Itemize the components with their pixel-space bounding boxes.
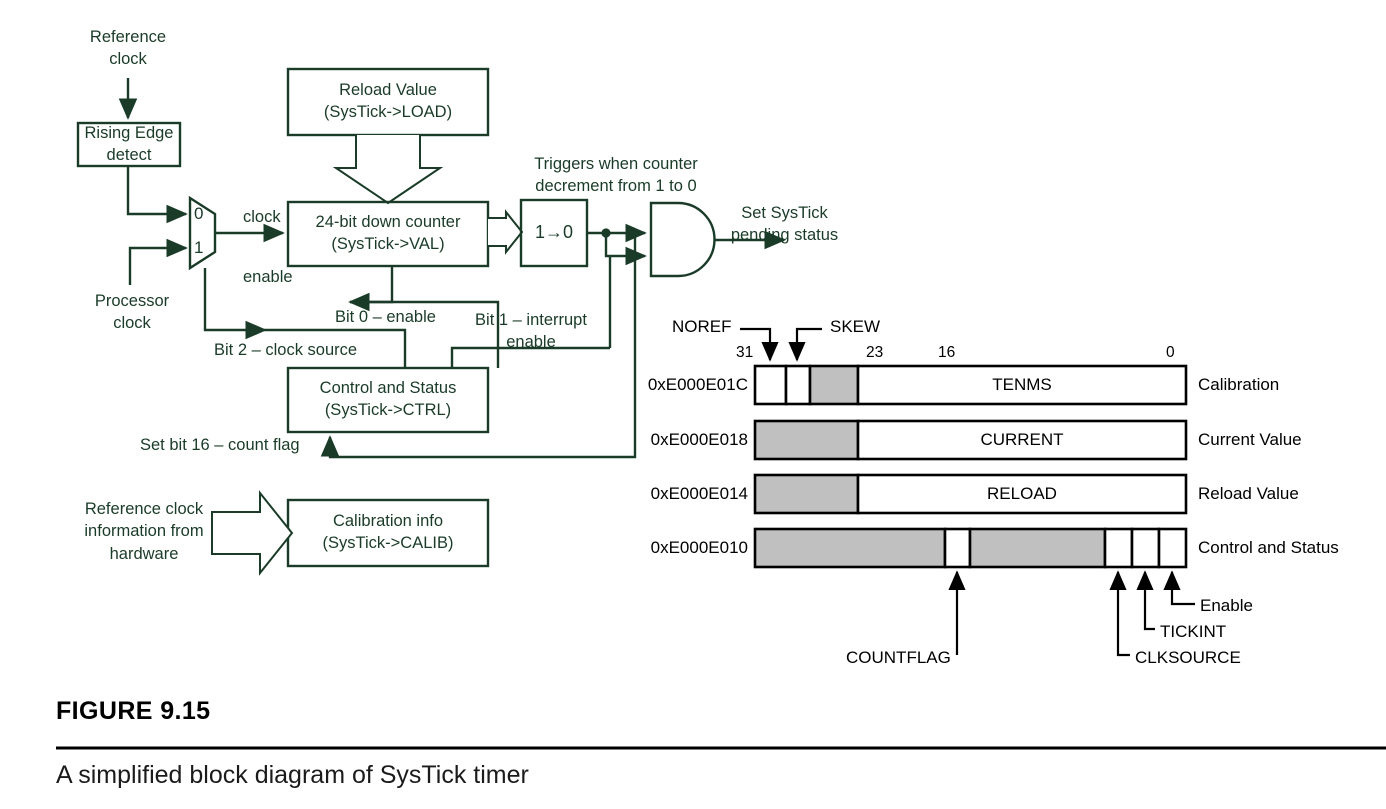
rising-edge-line2: detect [107,145,152,167]
register-name-control-status: Control and Status [1198,538,1339,558]
block-label-rising-edge: Rising Edge detect [78,123,180,166]
register-address-calibration: 0xE000E01C [612,375,748,395]
register-row-control-status [755,529,1186,567]
figure-number: FIGURE 9.15 [56,697,210,726]
pointer-label-skew: SKEW [830,317,880,337]
diagram-vector-layer [0,0,1386,809]
register-field-current: CURRENT [858,430,1186,450]
register-name-current-value: Current Value [1198,430,1302,450]
wire-label-count-flag: Set bit 16 – count flag [140,436,300,455]
one-to-zero-text: 1→0 [535,221,573,245]
block-label-one-to-zero: 1→0 [521,200,587,266]
block-label-down-counter: 24-bit down counter (SysTick->VAL) [288,202,488,266]
mux-input-1-label: 1 [194,238,203,258]
mux-input-0-label: 0 [194,204,203,224]
rising-edge-line1: Rising Edge [85,123,174,145]
register-name-calibration: Calibration [1198,375,1279,395]
trigger-line1: Triggers when counter [534,155,698,173]
hardware-info-line1: Reference clock [85,500,203,518]
block-label-control-status: Control and Status (SysTick->CTRL) [288,368,488,432]
label-reference-clock: Reference clock [76,26,180,71]
pointer-label-countflag: COUNTFLAG [846,648,951,668]
leader-skew [797,329,822,360]
down-counter-line2: (SysTick->VAL) [331,234,444,256]
block-arrow-hardware-to-calib [212,493,292,573]
label-trigger-note: Triggers when counter decrement from 1 t… [521,154,711,198]
bit-number-31: 31 [736,344,753,362]
label-hardware-reference-info: Reference clock information from hardwar… [74,498,214,565]
bit-number-0: 0 [1166,344,1175,362]
bit-number-16: 16 [938,344,955,362]
pointer-label-noref: NOREF [672,317,732,337]
leader-enable [1172,572,1195,604]
bit-number-23: 23 [866,344,883,362]
pointer-label-tickint: TICKINT [1160,622,1226,642]
calibration-info-line1: Calibration info [333,511,443,533]
down-counter-line1: 24-bit down counter [316,212,461,234]
reference-clock-line2: clock [109,50,147,68]
wire-label-clock: clock [243,208,281,227]
hardware-info-line3: hardware [110,545,179,563]
wire-enable-stub [350,266,392,302]
wire-label-bit1-interrupt: Bit 1 – interrupt enable [466,310,596,354]
and-gate-shape [651,203,715,276]
processor-clock-line2: clock [113,314,151,332]
reference-clock-line1: Reference [90,28,166,46]
register-address-current: 0xE000E018 [612,430,748,450]
register-name-reload-value: Reload Value [1198,484,1299,504]
block-label-reload-value: Reload Value (SysTick->LOAD) [288,69,488,135]
bit1-line2: enable [506,333,556,351]
reload-value-line2: (SysTick->LOAD) [324,102,452,124]
control-status-line2: (SysTick->CTRL) [325,400,451,422]
control-status-line1: Control and Status [320,378,457,400]
leader-clksource [1118,572,1130,655]
trigger-line2: decrement from 1 to 0 [535,177,696,195]
register-field-reload: RELOAD [858,484,1186,504]
block-arrow-counter-to-trigger [488,212,522,252]
register-field-tenms: TENMS [858,375,1186,395]
label-systick-pending-output: Set SysTick pending status [722,203,847,247]
wire-label-enable: enable [243,268,293,287]
leader-tickint [1145,572,1155,629]
pointer-label-clksource: CLKSOURCE [1135,648,1241,668]
wire-label-bit0-enable: Bit 0 – enable [335,308,436,327]
register-address-control-status: 0xE000E010 [612,538,748,558]
calibration-info-line2: (SysTick->CALIB) [323,533,454,555]
output-line2: pending status [731,226,838,244]
figure-container: Reference clock Processor clock Referenc… [0,0,1386,809]
pointer-label-enable: Enable [1200,596,1253,616]
bit1-line1: Bit 1 – interrupt [475,311,587,329]
wire-risingedge-to-mux0 [128,166,186,214]
output-line1: Set SysTick [741,204,828,222]
block-arrow-reload-to-counter [336,135,440,203]
wire-label-bit2-clocksource: Bit 2 – clock source [214,341,357,360]
wire-procclock-to-mux1 [130,248,186,285]
hardware-info-line2: information from [84,522,203,540]
block-label-calibration-info: Calibration info (SysTick->CALIB) [288,500,488,566]
label-processor-clock: Processor clock [70,290,194,335]
processor-clock-line1: Processor [95,292,169,310]
figure-caption: A simplified block diagram of SysTick ti… [56,761,529,790]
wire-trigger-branch-to-andgate [606,233,645,256]
register-address-reload: 0xE000E014 [612,484,748,504]
reload-value-line1: Reload Value [339,80,437,102]
